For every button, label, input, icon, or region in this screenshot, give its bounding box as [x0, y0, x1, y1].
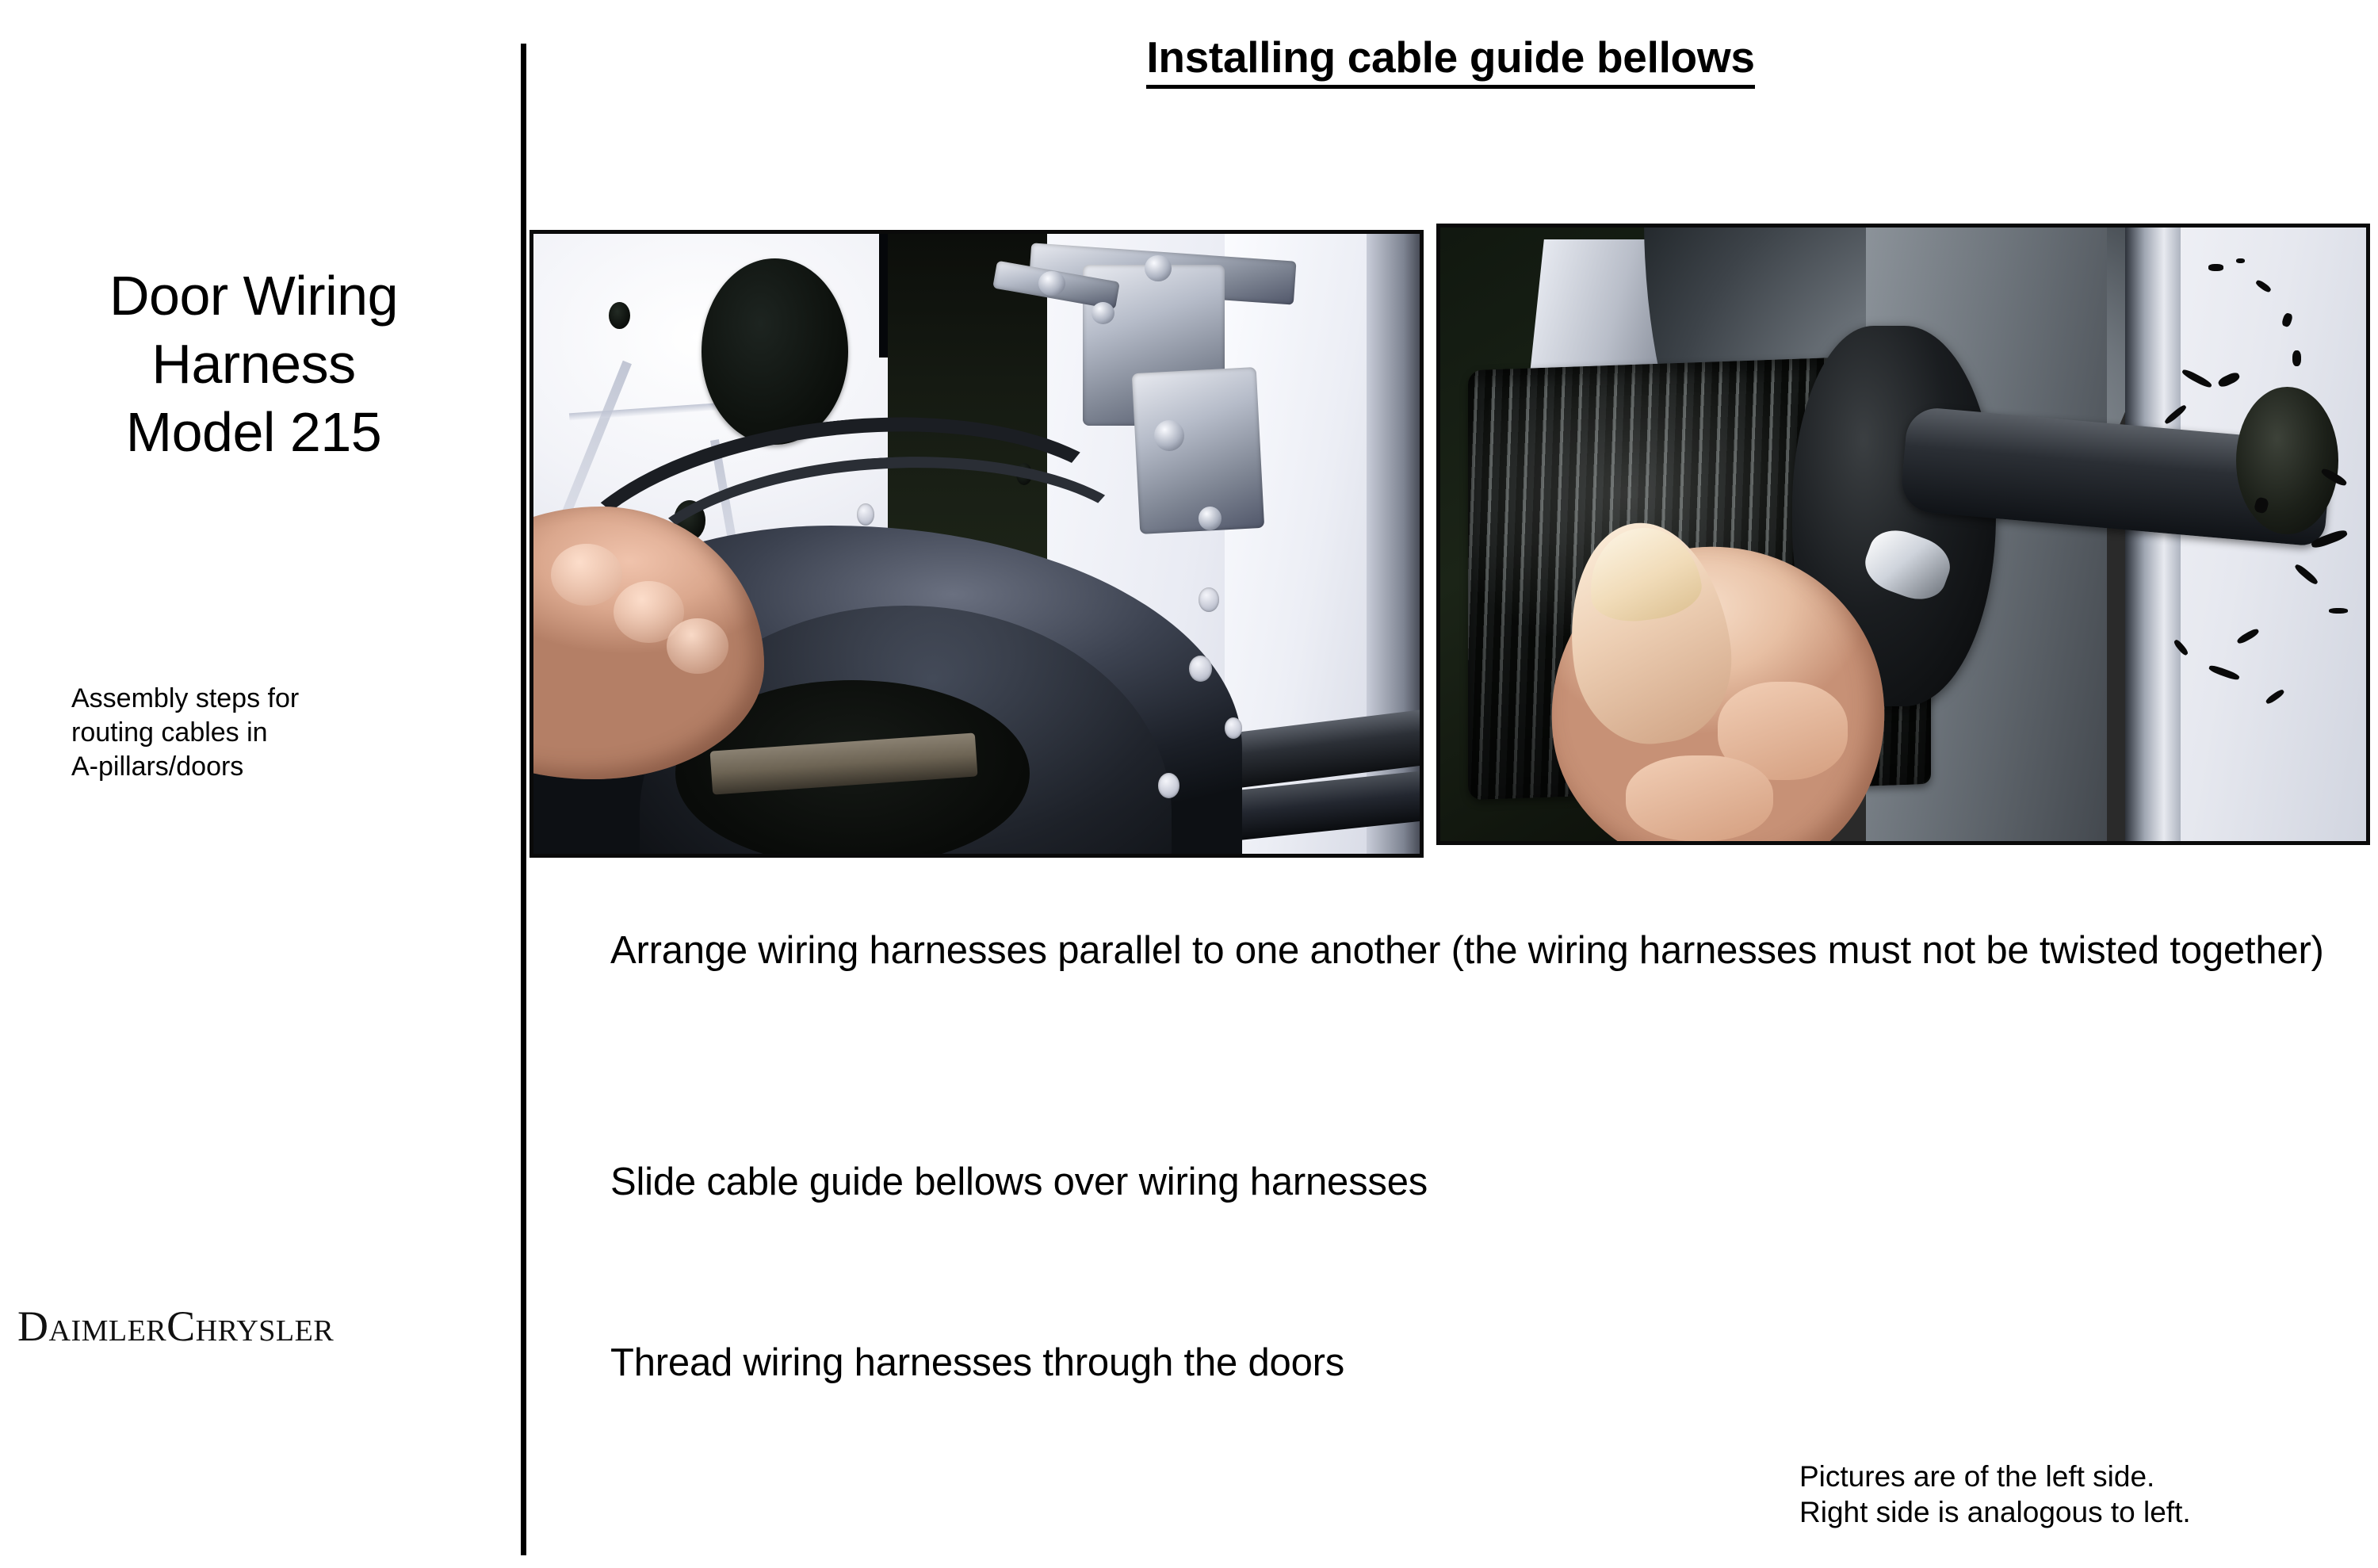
- knuckle-3: [667, 618, 728, 674]
- hinge-bolt-5: [1199, 507, 1221, 530]
- page-subtitle-line-3: A-pillars/doors: [71, 750, 484, 784]
- slide-canvas: Door Wiring Harness Model 215 Assembly s…: [0, 0, 2378, 1568]
- speaker-cutout-hole: [702, 258, 847, 445]
- panel-hole-1: [609, 302, 630, 329]
- page-title-line-2: Harness: [0, 330, 507, 398]
- hinge-bolt-3: [1145, 255, 1172, 281]
- door-seal-metal-strip: [2125, 228, 2181, 841]
- vertical-divider: [521, 44, 526, 1555]
- trim-screw-4: [1225, 717, 1242, 739]
- photo-left-scene: [533, 234, 1420, 854]
- trim-screw-1: [1199, 587, 1220, 612]
- conduit-end-cap: [2236, 387, 2338, 534]
- step-text-3: Thread wiring harnesses through the door…: [610, 1340, 2354, 1387]
- knuckle-1: [551, 544, 621, 606]
- step-text-2: Slide cable guide bellows over wiring ha…: [610, 1159, 2354, 1207]
- step-text-1: Arrange wiring harnesses parallel to one…: [610, 927, 2370, 975]
- finger-2: [1626, 755, 1774, 841]
- page-title-line-3: Model 215: [0, 398, 507, 466]
- side-note: Pictures are of the left side. Right sid…: [1799, 1459, 2370, 1530]
- daimlerchrysler-logo: DaimlerChrysler: [17, 1302, 509, 1351]
- page-title: Door Wiring Harness Model 215: [0, 262, 507, 466]
- paint-splatter-2: [2236, 258, 2245, 263]
- page-subtitle: Assembly steps for routing cables in A-p…: [71, 682, 484, 783]
- page-subtitle-line-2: routing cables in: [71, 716, 484, 750]
- page-title-line-1: Door Wiring: [0, 262, 507, 330]
- paint-splatter-16: [2329, 608, 2347, 614]
- photo-right-bellows-install: [1436, 224, 2370, 845]
- trim-screw-2: [1189, 656, 1212, 682]
- paint-splatter-1: [2208, 264, 2223, 271]
- photo-left-harness-routing: [530, 230, 1424, 858]
- paint-splatter-5: [2292, 350, 2302, 366]
- trim-screw-3: [1158, 773, 1179, 797]
- hinge-bolt-4: [1154, 420, 1184, 451]
- hinge-bracket-lower: [1132, 367, 1264, 534]
- side-note-line-2: Right side is analogous to left.: [1799, 1494, 2370, 1530]
- photo-right-scene: [1440, 228, 2366, 841]
- page-subtitle-line-1: Assembly steps for: [71, 682, 484, 716]
- section-headline: Installing cable guide bellows: [523, 32, 2378, 82]
- hinge-bolt-1: [1038, 271, 1065, 296]
- side-note-line-1: Pictures are of the left side.: [1799, 1459, 2370, 1494]
- section-headline-text: Installing cable guide bellows: [1146, 33, 1754, 89]
